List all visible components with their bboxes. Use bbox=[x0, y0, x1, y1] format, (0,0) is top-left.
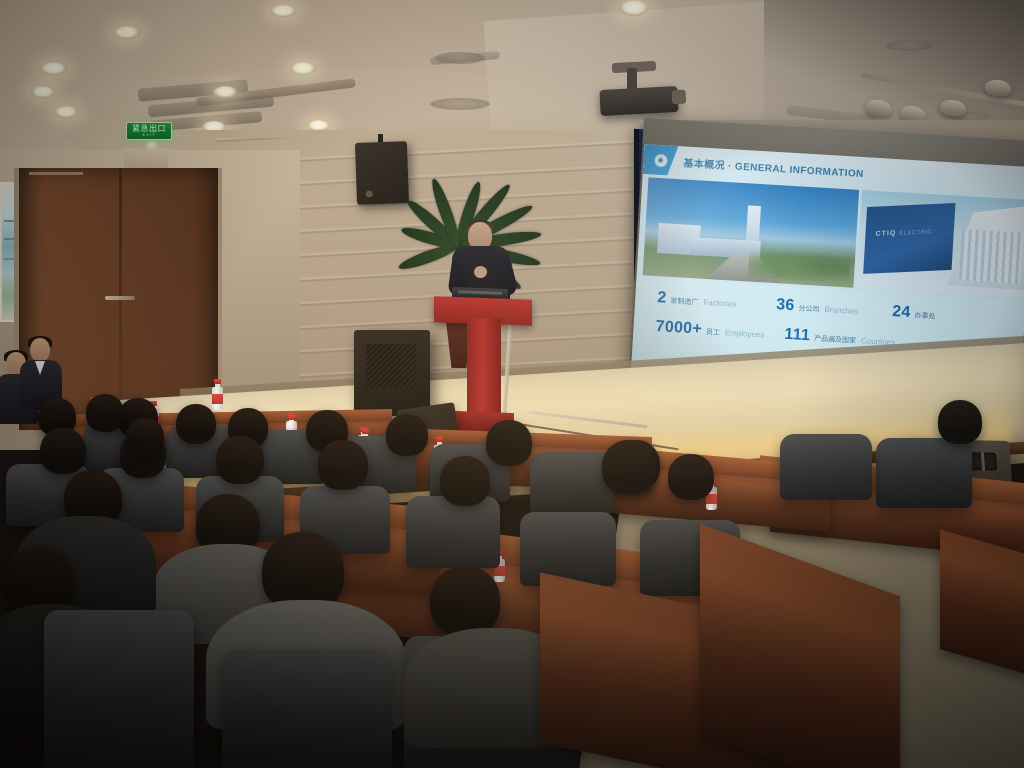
ceiling-downlight bbox=[213, 86, 237, 98]
audience-head bbox=[216, 436, 264, 484]
seat bbox=[876, 438, 972, 508]
ceiling-projector bbox=[599, 86, 678, 116]
stat-employees: 7000+ 员工 Employees bbox=[655, 318, 765, 342]
floor-subwoofer bbox=[354, 330, 430, 416]
stat-number: 36 bbox=[776, 296, 795, 315]
door-top-trim bbox=[29, 172, 83, 175]
stat-label-en: Employees bbox=[725, 328, 765, 339]
seat-front-row bbox=[222, 650, 392, 768]
emergency-light-dome bbox=[145, 141, 161, 151]
ceiling-downlight-off bbox=[430, 98, 490, 110]
audience-head bbox=[938, 400, 982, 444]
audience-head bbox=[176, 404, 216, 444]
ceiling-downlight bbox=[40, 62, 67, 75]
ceiling-downlight-off bbox=[886, 40, 932, 51]
audience-head bbox=[486, 420, 532, 466]
audience-head bbox=[440, 456, 490, 506]
slide-header-tab: ◉ bbox=[643, 144, 679, 176]
stat-label-cn: 员工 bbox=[706, 327, 721, 338]
audience-head bbox=[386, 414, 428, 456]
stat-label-en: Branches bbox=[824, 305, 858, 316]
audience-head bbox=[430, 566, 500, 636]
stat-label-cn: 家制造厂 bbox=[670, 296, 699, 308]
stat-number: 2 bbox=[657, 289, 667, 308]
door-handle[interactable] bbox=[105, 296, 135, 300]
auditorium-photo: 紧急出口 EXIT 技 ◉ bbox=[0, 0, 1024, 768]
seat bbox=[520, 512, 616, 586]
stat-number: 24 bbox=[892, 303, 911, 322]
audience-head bbox=[668, 454, 714, 500]
emergency-exit-sign: 紧急出口 EXIT bbox=[126, 122, 172, 140]
podium-column bbox=[467, 318, 501, 427]
logo-main-text: CTIQ bbox=[876, 230, 897, 238]
ceiling-downlight-off bbox=[435, 52, 485, 64]
exit-sign-housing bbox=[124, 148, 168, 168]
audience-head bbox=[40, 428, 86, 474]
stat-branches: 36 分公司 Branches bbox=[776, 296, 859, 319]
seat bbox=[406, 496, 500, 568]
water-bottle bbox=[212, 380, 223, 410]
stat-label-cn: 分公司 bbox=[798, 304, 820, 315]
building-windows bbox=[959, 229, 1023, 283]
stat-offices: 24 办事处 bbox=[892, 303, 936, 324]
ceiling-downlight bbox=[619, 0, 649, 16]
ceiling-downlight bbox=[290, 62, 316, 75]
exit-sign-label-en: EXIT bbox=[143, 133, 156, 138]
office-building-photo: CTIQ ELECTRIC bbox=[856, 190, 1024, 298]
stat-factories: 2 家制造厂 Factories bbox=[657, 289, 737, 312]
ceiling-downlight bbox=[113, 26, 140, 39]
ceiling-downlight bbox=[270, 5, 296, 17]
seat-front-row bbox=[44, 610, 194, 768]
stat-label-en: Factories bbox=[703, 298, 736, 309]
slide-photo-strip: CTIQ ELECTRIC bbox=[643, 177, 1024, 297]
company-logo-icon: ◉ bbox=[654, 153, 668, 167]
ceiling-downlight bbox=[31, 86, 55, 98]
audience-head bbox=[318, 440, 368, 490]
stat-label-cn: 产品遍及国家 bbox=[814, 333, 857, 345]
stat-number: 7000+ bbox=[655, 318, 702, 339]
slide-title: 基本概况 · GENERAL INFORMATION bbox=[683, 154, 864, 180]
seat bbox=[780, 434, 872, 500]
blue-facade bbox=[863, 203, 955, 274]
stat-label-cn: 办事处 bbox=[914, 310, 936, 321]
stat-number: 111 bbox=[784, 326, 811, 346]
attendant-head bbox=[30, 338, 50, 362]
trees bbox=[748, 248, 851, 283]
audience-head bbox=[126, 418, 164, 456]
ceiling-downlight bbox=[54, 106, 78, 118]
audience-head bbox=[602, 440, 656, 494]
audience-head bbox=[86, 394, 124, 432]
presenter-hand bbox=[474, 266, 487, 278]
campus-panorama-photo bbox=[643, 177, 859, 287]
